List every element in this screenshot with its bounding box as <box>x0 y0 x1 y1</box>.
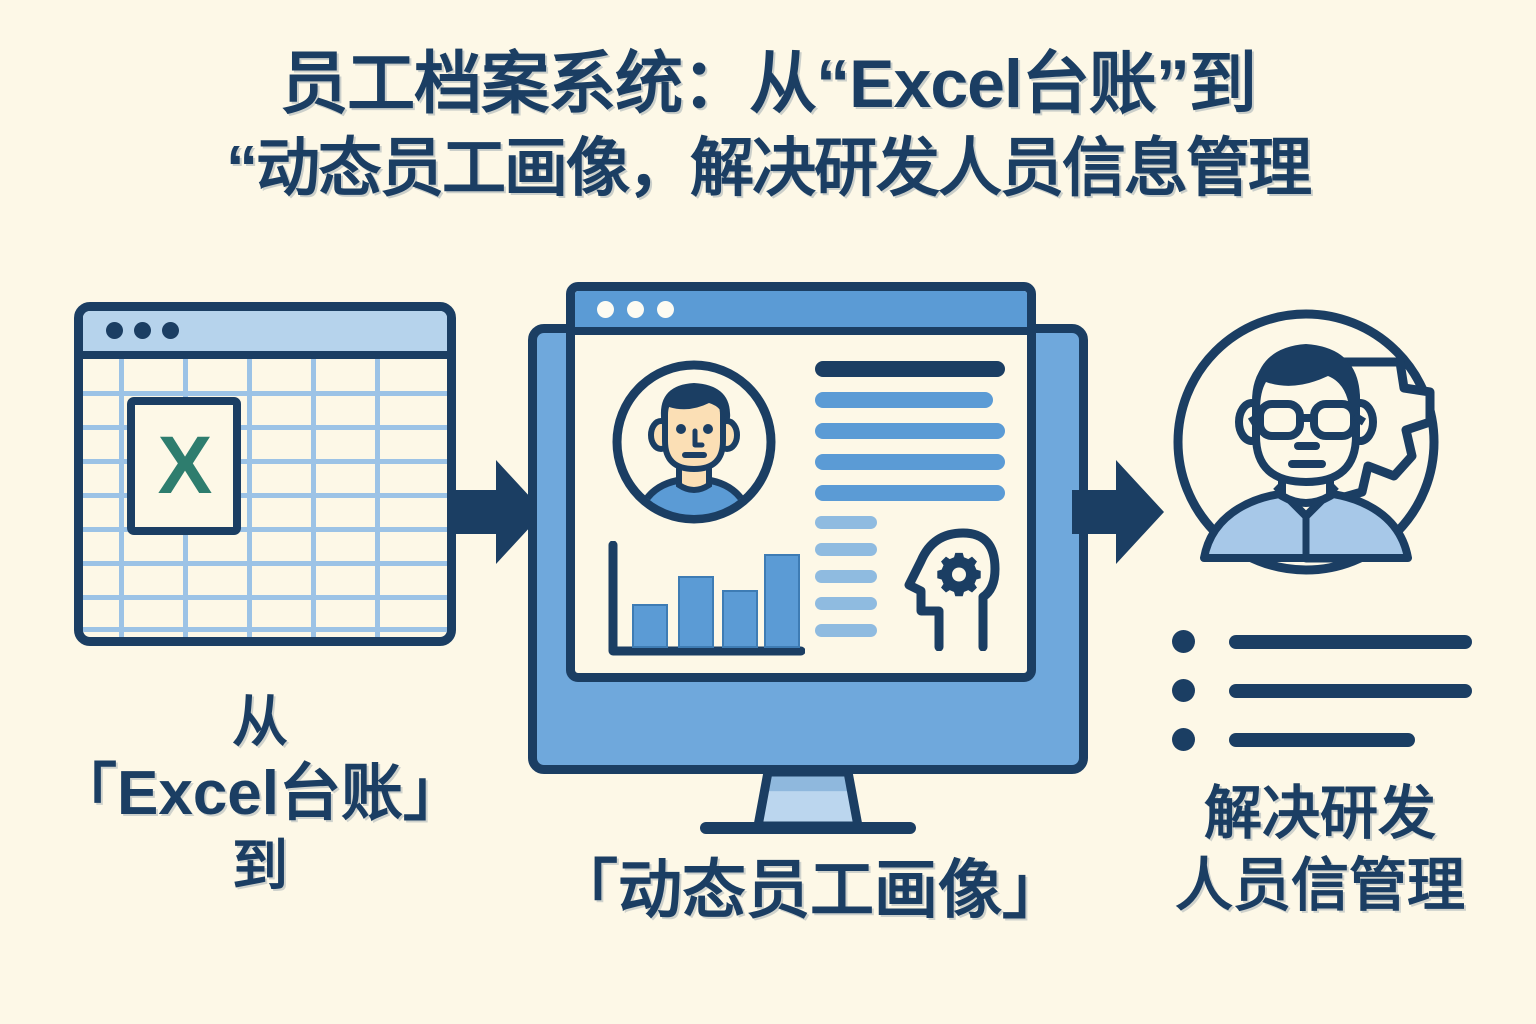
infographic-canvas: 员工档案系统：从“Excel台账”到 “动态员工画像，解决研发人员信息管理 X <box>0 0 1536 1024</box>
window-dot-icon-2 <box>134 322 151 339</box>
title-line-1: 员工档案系统：从“Excel台账”到 <box>0 42 1536 126</box>
monitor-screen <box>566 282 1036 682</box>
window-dot-icon-3 <box>162 322 179 339</box>
employee-avatar <box>611 359 777 525</box>
feature-bullet-list <box>1172 630 1472 777</box>
excel-window-titlebar <box>83 311 447 359</box>
caption-left: 从 「Excel台账」 到 <box>20 686 500 902</box>
bullet-bar <box>1229 684 1472 698</box>
caption-left-line-1: 从 <box>20 686 500 758</box>
info-bar <box>815 423 1005 439</box>
caption-left-line-3: 到 <box>20 830 500 902</box>
window-dot-icon-1 <box>106 322 123 339</box>
caption-left-line-2: 「Excel台账」 <box>20 758 500 830</box>
selected-cell[interactable]: X <box>127 397 241 535</box>
info-bar <box>815 485 1005 501</box>
info-bar <box>815 392 993 408</box>
window-dot-icon-3 <box>657 301 674 318</box>
bullet-bar <box>1229 733 1415 747</box>
info-bar-short <box>815 516 877 529</box>
title-line-2: “动态员工画像，解决研发人员信息管理 <box>0 126 1536 210</box>
caption-center: 「动态员工画像」 <box>510 852 1110 928</box>
info-bar-short <box>815 543 877 556</box>
bullet-dot-icon <box>1172 679 1195 702</box>
engineer-profile-gear <box>1156 300 1466 610</box>
info-bar <box>815 361 1005 377</box>
window-dot-icon-1 <box>597 301 614 318</box>
list-item <box>1172 728 1472 751</box>
list-item <box>1172 679 1472 702</box>
caption-right: 解决研发 人员信管理 <box>1110 778 1530 922</box>
bullet-dot-icon <box>1172 630 1195 653</box>
info-bar-short <box>815 624 877 637</box>
monitor-stand <box>750 768 866 830</box>
caption-center-line-1: 「动态员工画像」 <box>510 852 1110 928</box>
caption-right-line-1: 解决研发 <box>1110 778 1530 850</box>
info-bar-short <box>815 597 877 610</box>
excel-x-logo: X <box>158 425 211 507</box>
caption-right-line-2: 人员信管理 <box>1110 850 1530 922</box>
info-bar <box>815 454 1005 470</box>
spreadsheet-grid: X <box>83 359 447 637</box>
head-with-gear-icon <box>897 523 1005 651</box>
monitor-window-titlebar <box>575 291 1027 335</box>
monitor-base <box>700 822 916 834</box>
employee-profile-monitor <box>528 282 1088 812</box>
excel-ledger-window: X <box>74 302 456 646</box>
arrow-monitor-to-profile-icon <box>1072 458 1164 566</box>
bullet-bar <box>1229 635 1472 649</box>
profile-bar-chart <box>605 541 805 661</box>
info-bar-short <box>815 570 877 583</box>
bullet-dot-icon <box>1172 728 1195 751</box>
page-title: 员工档案系统：从“Excel台账”到 “动态员工画像，解决研发人员信息管理 <box>0 42 1536 210</box>
list-item <box>1172 630 1472 653</box>
window-dot-icon-2 <box>627 301 644 318</box>
